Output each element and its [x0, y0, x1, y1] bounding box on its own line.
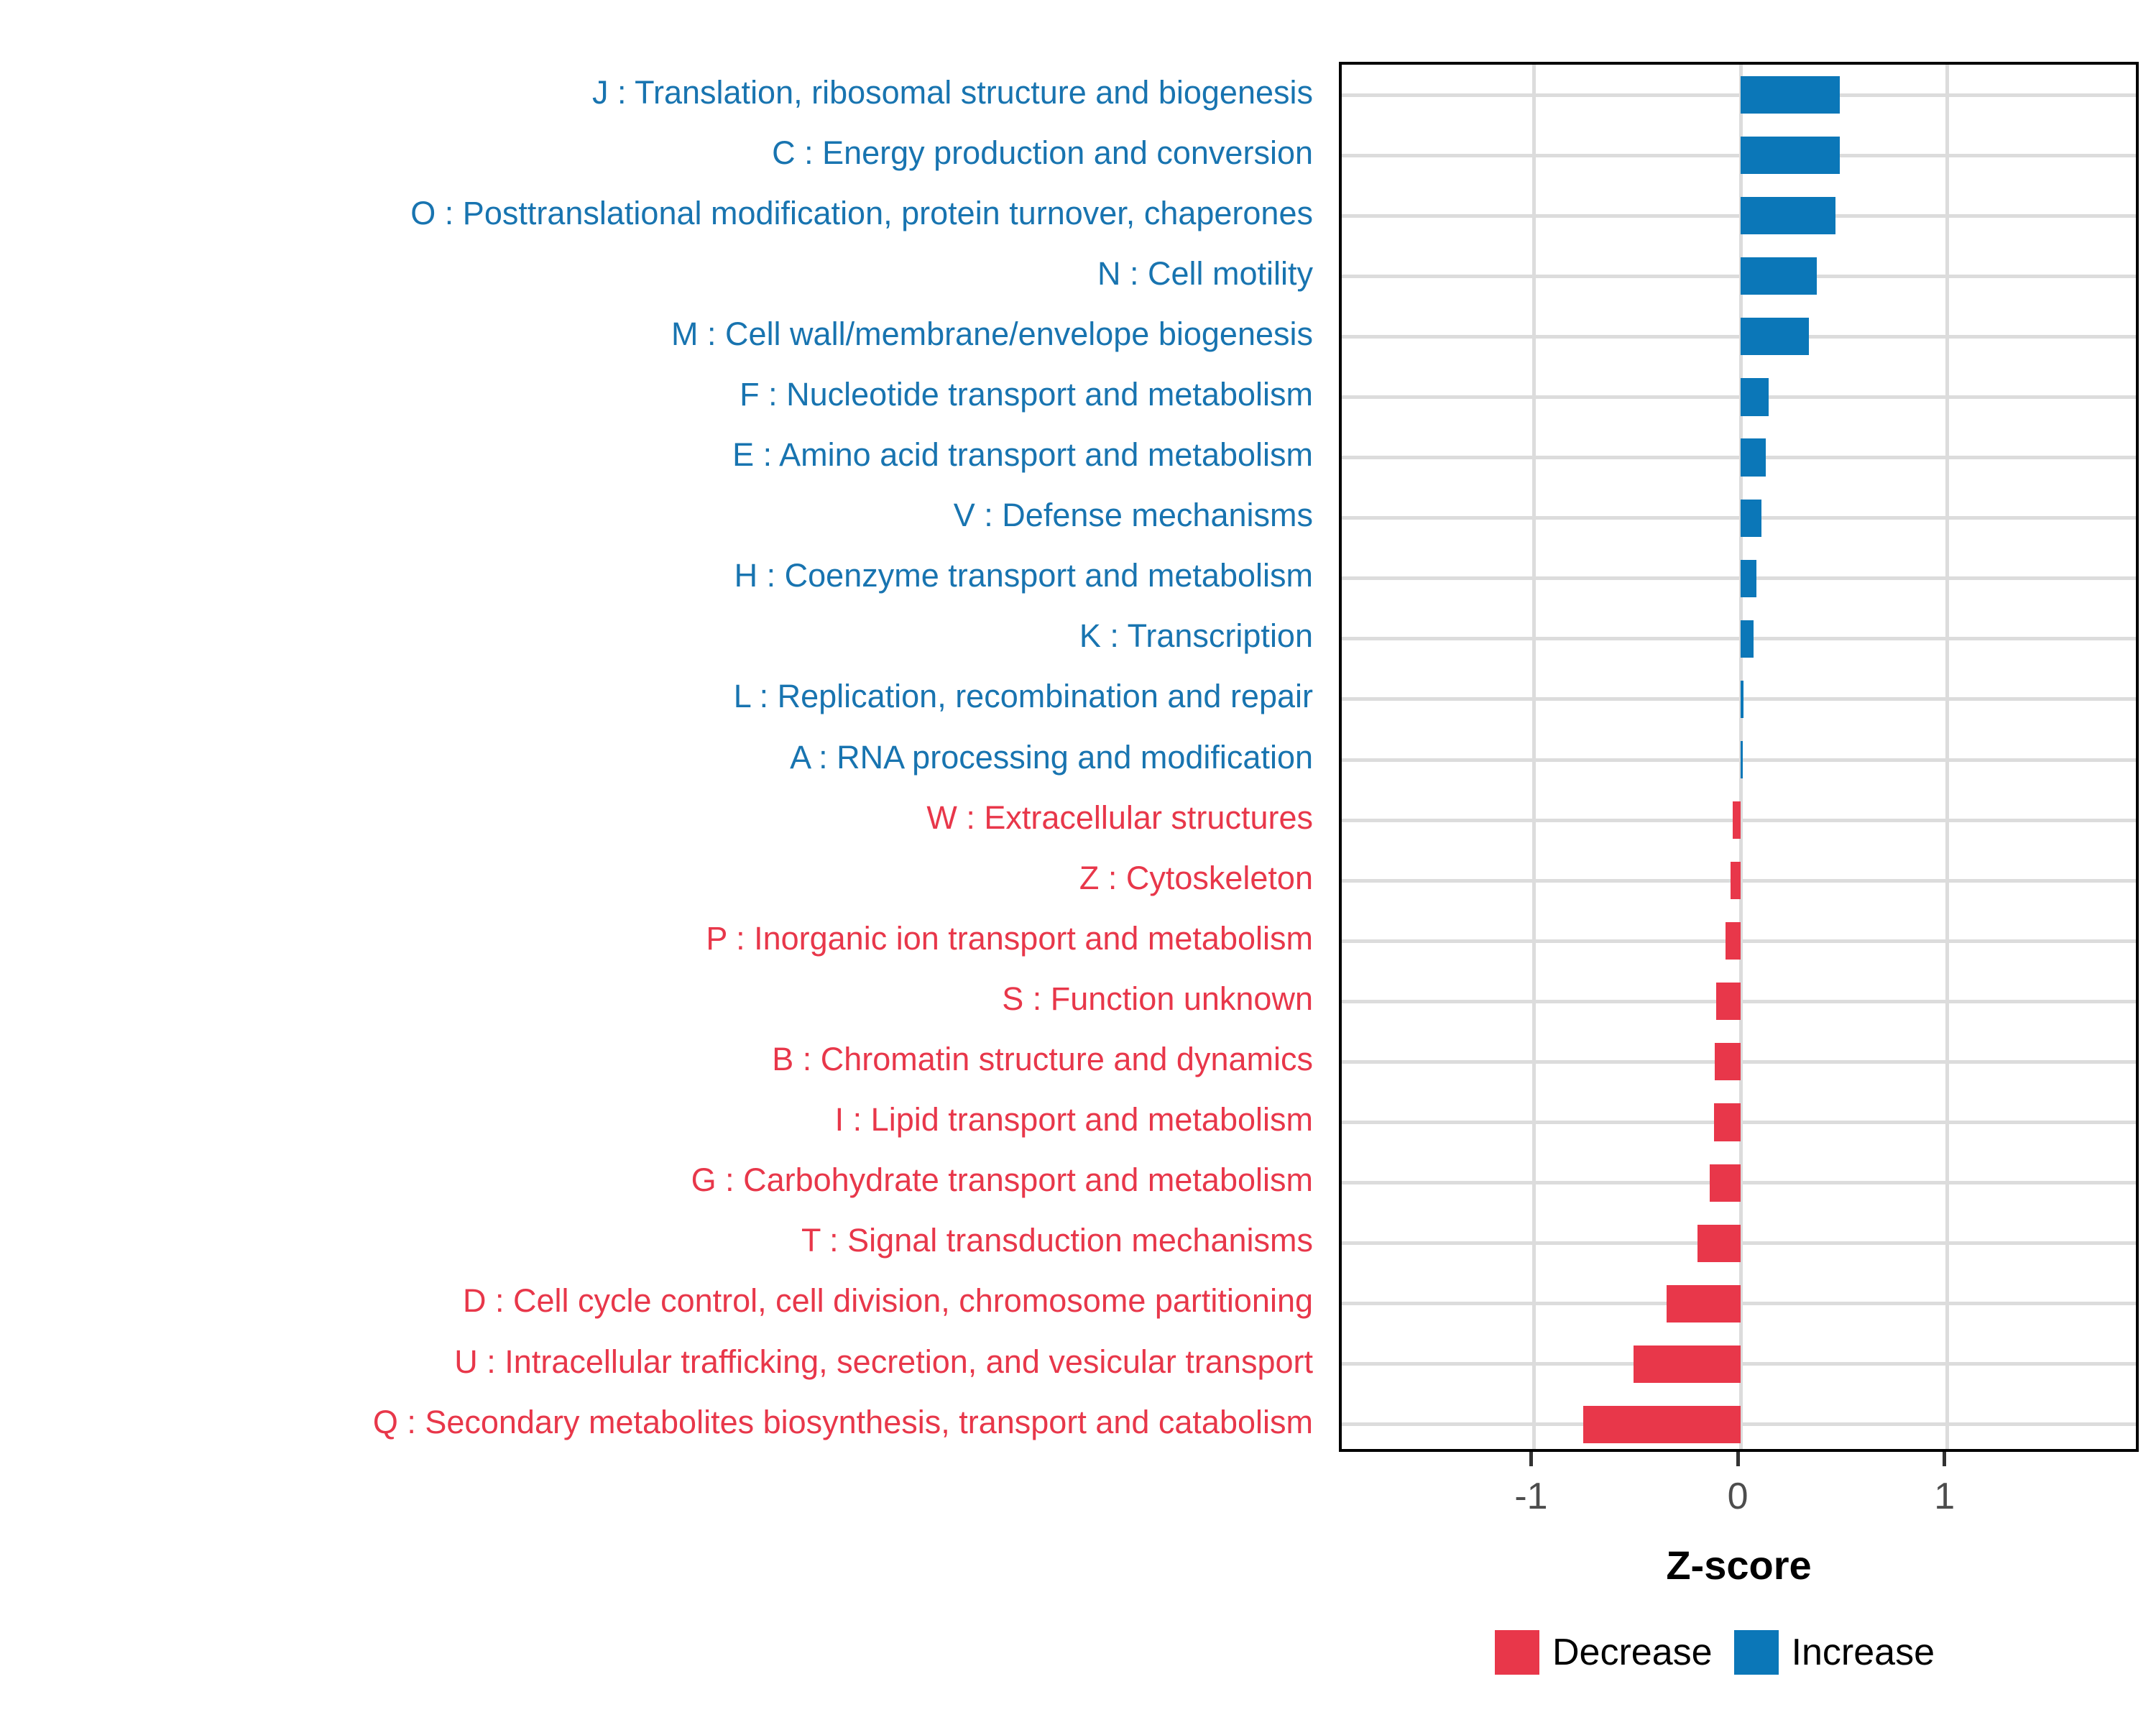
category-label-row: M : Cell wall/membrane/envelope biogenes…	[0, 303, 1326, 364]
category-label-row: Q : Secondary metabolites biosynthesis, …	[0, 1391, 1326, 1452]
x-axis-tick-mark	[1943, 1452, 1946, 1466]
bar[interactable]	[1726, 922, 1741, 960]
category-label: E : Amino acid transport and metabolism	[732, 438, 1313, 471]
category-label-row: A : RNA processing and modification	[0, 727, 1326, 787]
category-label-row: F : Nucleotide transport and metabolism	[0, 364, 1326, 424]
chart-legend: Decrease Increase	[1495, 1630, 1935, 1675]
category-label-row: N : Cell motility	[0, 243, 1326, 303]
bar-row	[1342, 741, 2136, 778]
category-label: U : Intracellular trafficking, secretion…	[454, 1345, 1313, 1378]
category-label-row: H : Coenzyme transport and metabolism	[0, 546, 1326, 606]
category-label-row: P : Inorganic ion transport and metaboli…	[0, 908, 1326, 968]
bar-row	[1342, 438, 2136, 476]
category-label-row: G : Carbohydrate transport and metabolis…	[0, 1150, 1326, 1210]
category-label-row: L : Replication, recombination and repai…	[0, 666, 1326, 727]
bar[interactable]	[1741, 620, 1754, 658]
category-label: G : Carbohydrate transport and metabolis…	[691, 1164, 1313, 1196]
bar-row	[1342, 1043, 2136, 1080]
category-label: H : Coenzyme transport and metabolism	[734, 559, 1313, 592]
category-label-row: D : Cell cycle control, cell division, c…	[0, 1271, 1326, 1331]
bar[interactable]	[1741, 560, 1756, 597]
category-label-row: W : Extracellular structures	[0, 787, 1326, 847]
bar[interactable]	[1741, 438, 1766, 476]
plot-panel-inner	[1342, 65, 2136, 1449]
category-label-row: K : Transcription	[0, 606, 1326, 666]
category-label-row: I : Lipid transport and metabolism	[0, 1090, 1326, 1150]
category-label: M : Cell wall/membrane/envelope biogenes…	[671, 318, 1313, 350]
category-label-row: B : Chromatin structure and dynamics	[0, 1029, 1326, 1090]
category-label: F : Nucleotide transport and metabolism	[740, 378, 1313, 410]
bar[interactable]	[1634, 1345, 1741, 1383]
category-label-row: U : Intracellular trafficking, secretion…	[0, 1331, 1326, 1391]
bar[interactable]	[1741, 76, 1840, 114]
bar-row	[1342, 76, 2136, 114]
bar-row	[1342, 137, 2136, 174]
bar[interactable]	[1733, 801, 1741, 839]
bar-row	[1342, 1225, 2136, 1262]
increase-swatch-icon	[1734, 1630, 1779, 1675]
bar-row	[1342, 801, 2136, 839]
bar[interactable]	[1741, 378, 1769, 415]
bar[interactable]	[1741, 318, 1809, 355]
bar[interactable]	[1741, 257, 1817, 295]
bar-row	[1342, 257, 2136, 295]
plot-panel	[1339, 62, 2139, 1452]
legend-item-decrease[interactable]: Decrease	[1495, 1630, 1713, 1675]
category-label: K : Transcription	[1079, 620, 1313, 652]
bar-row	[1342, 197, 2136, 234]
category-label: S : Function unknown	[1002, 983, 1313, 1015]
x-axis-tick-mark	[1736, 1452, 1740, 1466]
category-label-row: Z : Cytoskeleton	[0, 847, 1326, 908]
category-label: J : Translation, ribosomal structure and…	[592, 76, 1313, 109]
bar[interactable]	[1697, 1225, 1741, 1262]
bar[interactable]	[1583, 1406, 1741, 1443]
category-label-row: E : Amino acid transport and metabolism	[0, 425, 1326, 485]
legend-label-decrease: Decrease	[1552, 1631, 1713, 1674]
bar[interactable]	[1741, 681, 1743, 718]
category-label: N : Cell motility	[1097, 257, 1313, 290]
x-axis-title: Z-score	[1339, 1542, 2139, 1588]
bar[interactable]	[1741, 500, 1761, 537]
category-label: A : RNA processing and modification	[790, 741, 1313, 773]
bar-row	[1342, 560, 2136, 597]
decrease-swatch-icon	[1495, 1630, 1539, 1675]
category-label-row: O : Posttranslational modification, prot…	[0, 183, 1326, 243]
bar[interactable]	[1741, 741, 1743, 778]
legend-label-increase: Increase	[1792, 1631, 1935, 1674]
category-label: C : Energy production and conversion	[772, 137, 1313, 169]
bar[interactable]	[1741, 197, 1835, 234]
bar[interactable]	[1667, 1285, 1741, 1322]
category-label: T : Signal transduction mechanisms	[801, 1224, 1313, 1256]
bar-row	[1342, 1103, 2136, 1141]
category-label: I : Lipid transport and metabolism	[835, 1103, 1313, 1136]
bar[interactable]	[1741, 137, 1840, 174]
bar-row	[1342, 1285, 2136, 1322]
bar-row	[1342, 378, 2136, 415]
category-label: B : Chromatin structure and dynamics	[772, 1043, 1313, 1075]
bar-row	[1342, 500, 2136, 537]
x-axis-tick-label: 1	[1934, 1475, 1955, 1518]
category-label: W : Extracellular structures	[926, 801, 1313, 834]
category-label-row: S : Function unknown	[0, 968, 1326, 1029]
bar[interactable]	[1731, 862, 1741, 899]
category-label: Z : Cytoskeleton	[1079, 862, 1313, 894]
bar-row	[1342, 1345, 2136, 1383]
category-label: P : Inorganic ion transport and metaboli…	[706, 922, 1313, 954]
bar[interactable]	[1715, 1043, 1741, 1080]
bar-row	[1342, 620, 2136, 658]
bar-row	[1342, 318, 2136, 355]
legend-item-increase[interactable]: Increase	[1734, 1630, 1935, 1675]
category-label-row: C : Energy production and conversion	[0, 122, 1326, 183]
cog-z-score-bar-chart: J : Translation, ribosomal structure and…	[0, 0, 2156, 1725]
bar-row	[1342, 983, 2136, 1020]
bar-row	[1342, 681, 2136, 718]
category-axis-labels: J : Translation, ribosomal structure and…	[0, 62, 1326, 1452]
category-label: O : Posttranslational modification, prot…	[410, 197, 1313, 229]
bar-row	[1342, 922, 2136, 960]
category-label-row: T : Signal transduction mechanisms	[0, 1210, 1326, 1271]
bar[interactable]	[1710, 1164, 1741, 1202]
x-axis-tick-label: 0	[1728, 1475, 1749, 1518]
bar-row	[1342, 1406, 2136, 1443]
category-label-row: V : Defense mechanisms	[0, 485, 1326, 546]
category-label: D : Cell cycle control, cell division, c…	[463, 1284, 1313, 1317]
category-label-row: J : Translation, ribosomal structure and…	[0, 62, 1326, 122]
x-axis-tick-label: -1	[1514, 1475, 1547, 1518]
bar-row	[1342, 862, 2136, 899]
category-label: V : Defense mechanisms	[954, 499, 1313, 531]
bar[interactable]	[1714, 1103, 1741, 1141]
bar-row	[1342, 1164, 2136, 1202]
bar[interactable]	[1716, 983, 1741, 1020]
x-axis-tick-mark	[1529, 1452, 1533, 1466]
category-label: Q : Secondary metabolites biosynthesis, …	[373, 1406, 1313, 1438]
category-label: L : Replication, recombination and repai…	[734, 680, 1313, 712]
